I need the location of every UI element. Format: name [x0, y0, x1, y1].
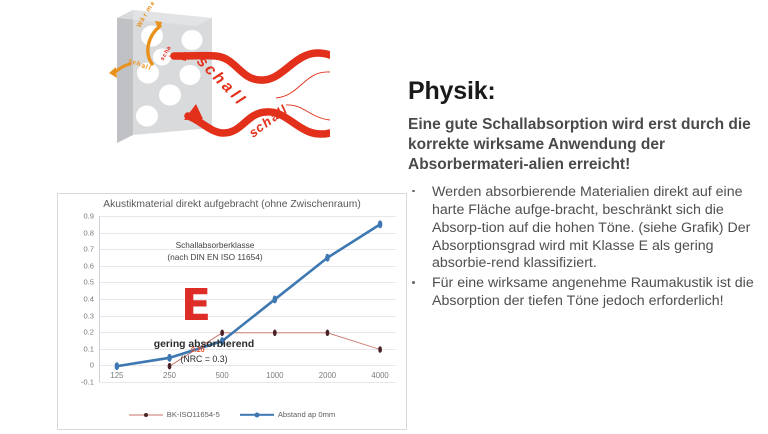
data-point-label: 0.20: [191, 347, 205, 354]
y-tick-label: 0.2: [83, 328, 94, 337]
y-tick-label: -0.1: [81, 378, 94, 387]
absorber-class-line1: Schallabsorberklasse: [140, 239, 290, 251]
bullet-dot-icon: [412, 190, 415, 193]
legend-label: Abstand ap 0mm: [278, 410, 335, 419]
lead-paragraph: Eine gute Schallabsorption wird erst dur…: [408, 115, 756, 175]
absorber-class-annotation: Schallabsorberklasse (nach DIN EN ISO 11…: [140, 239, 290, 263]
legend-label: BK-ISO11654-5: [167, 410, 220, 419]
data-point-marker: [220, 330, 224, 337]
y-tick-label: 0.8: [83, 228, 94, 237]
y-tick-label: 0: [90, 361, 94, 370]
y-axis-labels: 0.90.80.70.60.50.40.30.20.10-0.1: [58, 216, 98, 382]
data-point-marker: [273, 295, 278, 303]
bullet-list: Werden absorbierende Materialien direkt …: [408, 184, 756, 311]
y-tick-label: 0.5: [83, 278, 94, 287]
class-letter: E: [166, 284, 226, 328]
data-point-marker: [326, 330, 330, 337]
y-tick-label: 0.1: [83, 344, 94, 353]
physik-text-panel: Physik: Eine gute Schallabsorption wird …: [408, 78, 756, 313]
y-tick-label: 0.7: [83, 245, 94, 254]
page-title: Physik:: [408, 78, 756, 106]
data-point-marker: [325, 254, 330, 262]
y-tick-label: 0.3: [83, 311, 94, 320]
legend-item[interactable]: BK-ISO11654-5: [129, 410, 220, 419]
nrc-label: (NRC = 0.3): [114, 354, 294, 364]
list-item: Werden absorbierende Materialien direkt …: [408, 184, 756, 273]
bullet-dot-icon: [412, 281, 415, 284]
legend-swatch-icon: [240, 411, 274, 419]
data-point-marker: [273, 330, 277, 337]
bullet-text: Für eine wirksame angenehme Raumakustik …: [432, 275, 754, 309]
slide-canvas: W ä r m e s c h a l l s c h a s: [0, 0, 768, 434]
data-point-marker: [378, 220, 383, 228]
chart-title: Akustikmaterial direkt aufgebracht (ohne…: [58, 199, 406, 210]
y-tick-label: 0.4: [83, 295, 94, 304]
absorber-class-line2: (nach DIN EN ISO 11654): [140, 251, 290, 263]
absorption-chart: Akustikmaterial direkt aufgebracht (ohne…: [57, 193, 407, 430]
y-tick-label: 0.9: [83, 212, 94, 221]
label-schall-lower-right: s c h a l l: [246, 102, 290, 140]
y-tick-label: 0.6: [83, 261, 94, 270]
legend-swatch-icon: [129, 411, 163, 419]
list-item: Für eine wirksame angenehme Raumakustik …: [408, 275, 756, 311]
legend-item[interactable]: Abstand ap 0mm: [240, 410, 335, 419]
bullet-text: Werden absorbierende Materialien direkt …: [432, 184, 750, 272]
perforated-acoustic-panel-diagram: W ä r m e s c h a l l s c h a s: [100, 0, 330, 150]
data-point-marker: [378, 346, 382, 353]
chart-legend: BK-ISO11654-5Abstand ap 0mm: [58, 410, 406, 419]
